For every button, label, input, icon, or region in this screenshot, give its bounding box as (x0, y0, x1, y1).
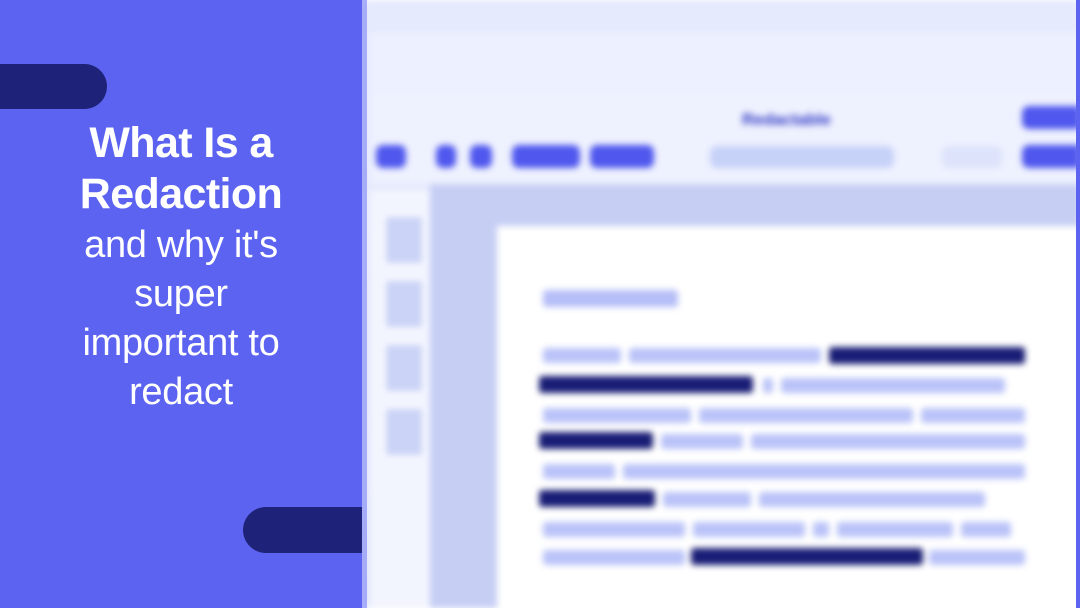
text-segment (661, 434, 743, 449)
text-segment (629, 348, 821, 363)
text-segment (543, 522, 685, 537)
document-page[interactable] (497, 226, 1080, 608)
text-segment (623, 464, 1025, 479)
headline-line-3: and why it's (14, 223, 348, 268)
toolbar-button-1[interactable] (376, 145, 406, 168)
text-segment (813, 522, 829, 537)
headline-line-2: Redaction (14, 169, 348, 220)
text-segment (543, 408, 691, 423)
page-thumbnail-4[interactable] (383, 406, 425, 458)
page-thumbnail-3[interactable] (383, 342, 425, 394)
text-segment (929, 550, 1025, 565)
text-segment (837, 522, 953, 537)
headline-line-6: redact (14, 370, 348, 415)
cover-image-canvas: Redactable (0, 0, 1080, 608)
primary-button-top[interactable] (1022, 106, 1080, 129)
page-thumbnail-2[interactable] (383, 278, 425, 330)
text-segment (759, 492, 985, 507)
text-segment (663, 492, 751, 507)
page-thumbnail-rail[interactable] (370, 190, 430, 608)
decorative-pill-top (0, 64, 107, 109)
app-titlebar (370, 32, 1080, 94)
status-pill (942, 146, 1002, 168)
page-thumbnail-1[interactable] (383, 214, 425, 266)
window-left-edge (362, 0, 367, 608)
text-segment (921, 408, 1025, 423)
redaction-bar[interactable] (539, 432, 653, 449)
text-segment (763, 378, 773, 393)
text-segment (543, 348, 621, 363)
toolbar-button-3[interactable] (470, 145, 492, 168)
headline-line-1: What Is a (14, 118, 348, 169)
redaction-bar[interactable] (539, 376, 753, 393)
toolbar-button-2[interactable] (436, 145, 456, 168)
text-segment (751, 434, 1025, 449)
redaction-bar[interactable] (829, 347, 1025, 364)
redaction-bar[interactable] (539, 490, 655, 507)
app-toolbar (370, 94, 1080, 184)
text-segment (693, 522, 805, 537)
toolbar-button-5[interactable] (590, 145, 654, 168)
text-segment (543, 550, 685, 565)
text-segment (961, 522, 1011, 537)
brand-left-panel: What Is a Redaction and why it's super i… (0, 0, 362, 608)
headline-line-4: super (14, 272, 348, 317)
toolbar-button-4[interactable] (512, 145, 580, 168)
headline-line-5: important to (14, 321, 348, 366)
text-segment (699, 408, 913, 423)
primary-button-bottom[interactable] (1022, 145, 1080, 168)
document-heading-bar (543, 290, 678, 307)
search-input[interactable] (710, 146, 894, 168)
redaction-bar[interactable] (691, 548, 923, 565)
blurred-app-screenshot: Redactable (362, 0, 1080, 608)
app-title-logo: Redactable (742, 110, 831, 130)
brand-right-edge-sliver (1076, 0, 1080, 608)
text-segment (781, 378, 1005, 393)
text-segment (543, 464, 615, 479)
page-title: What Is a Redaction and why it's super i… (0, 118, 362, 415)
decorative-pill-bottom (243, 507, 362, 553)
